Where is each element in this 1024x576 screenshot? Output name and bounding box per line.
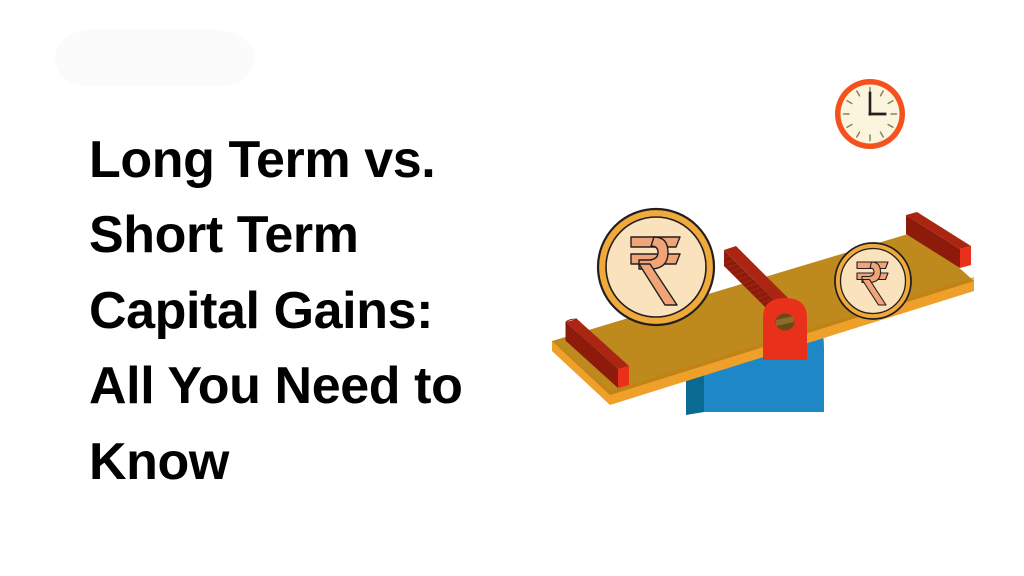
faint-rounded-blob — [55, 29, 255, 86]
poster-canvas: Long Term vs. Short Term Capital Gains: … — [0, 0, 1024, 576]
page-title: Long Term vs. Short Term Capital Gains: … — [89, 123, 489, 501]
seesaw-illustration — [536, 60, 996, 450]
wall-clock-icon — [835, 79, 905, 149]
large-rupee-coin — [598, 209, 714, 325]
pivot-bracket — [763, 298, 807, 360]
small-rupee-coin — [835, 243, 911, 319]
clock-center-pin — [868, 112, 871, 115]
